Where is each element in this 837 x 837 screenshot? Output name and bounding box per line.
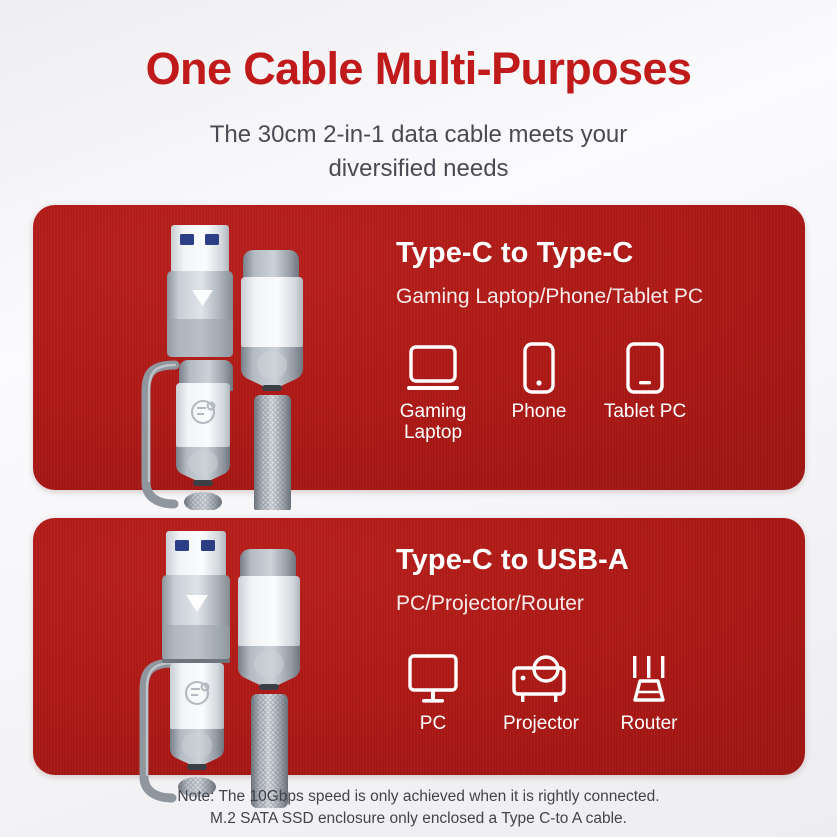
- footer-note-line-1: Note: The 10Gbps speed is only achieved …: [0, 786, 837, 808]
- page-subtitle-line-2: diversified needs: [0, 152, 837, 186]
- tablet-icon: [621, 338, 669, 394]
- device-label: Gaming Laptop: [400, 401, 467, 444]
- card-text-block: Type-C to Type-C Gaming Laptop/Phone/Tab…: [396, 239, 703, 307]
- phone-icon: [519, 338, 559, 394]
- device-icon-row-card-2: PC Projector: [390, 650, 692, 734]
- cable-illustration: [118, 215, 333, 510]
- page-subtitle-line-1: The 30cm 2-in-1 data cable meets your: [0, 118, 837, 152]
- pc-monitor-icon: [405, 650, 461, 706]
- device-item-pc: PC: [390, 650, 476, 734]
- device-item-projector: Projector: [498, 650, 584, 734]
- device-label: Tablet PC: [604, 401, 686, 422]
- card-title: Type-C to USB-A: [396, 546, 629, 575]
- device-item-tablet-pc: Tablet PC: [602, 338, 688, 422]
- cable-photo-type-c-to-type-c: [118, 215, 333, 505]
- device-label: PC: [420, 713, 446, 734]
- projector-icon: [510, 650, 572, 706]
- page-subtitle: The 30cm 2-in-1 data cable meets your di…: [0, 118, 837, 186]
- footer-note-line-2: M.2 SATA SSD enclosure only enclosed a T…: [0, 808, 837, 830]
- router-icon: [620, 650, 678, 706]
- cable-photo-type-c-to-usb-a: [118, 525, 333, 800]
- card-text-block: Type-C to USB-A PC/Projector/Router: [396, 546, 629, 614]
- device-label: Router: [620, 713, 677, 734]
- device-label: Projector: [503, 713, 579, 734]
- laptop-icon: [405, 338, 461, 394]
- card-subtitle: PC/Projector/Router: [396, 593, 629, 614]
- card-title: Type-C to Type-C: [396, 239, 703, 268]
- device-item-phone: Phone: [496, 338, 582, 422]
- product-infographic: One Cable Multi-Purposes The 30cm 2-in-1…: [0, 0, 837, 837]
- device-item-gaming-laptop: Gaming Laptop: [390, 338, 476, 444]
- page-title: One Cable Multi-Purposes: [0, 44, 837, 94]
- footer-note: Note: The 10Gbps speed is only achieved …: [0, 786, 837, 831]
- device-icon-row-card-1: Gaming Laptop Phone Tablet PC: [390, 338, 688, 444]
- cable-illustration: [118, 525, 333, 810]
- device-item-router: Router: [606, 650, 692, 734]
- device-label: Phone: [512, 401, 567, 422]
- card-subtitle: Gaming Laptop/Phone/Tablet PC: [396, 286, 703, 307]
